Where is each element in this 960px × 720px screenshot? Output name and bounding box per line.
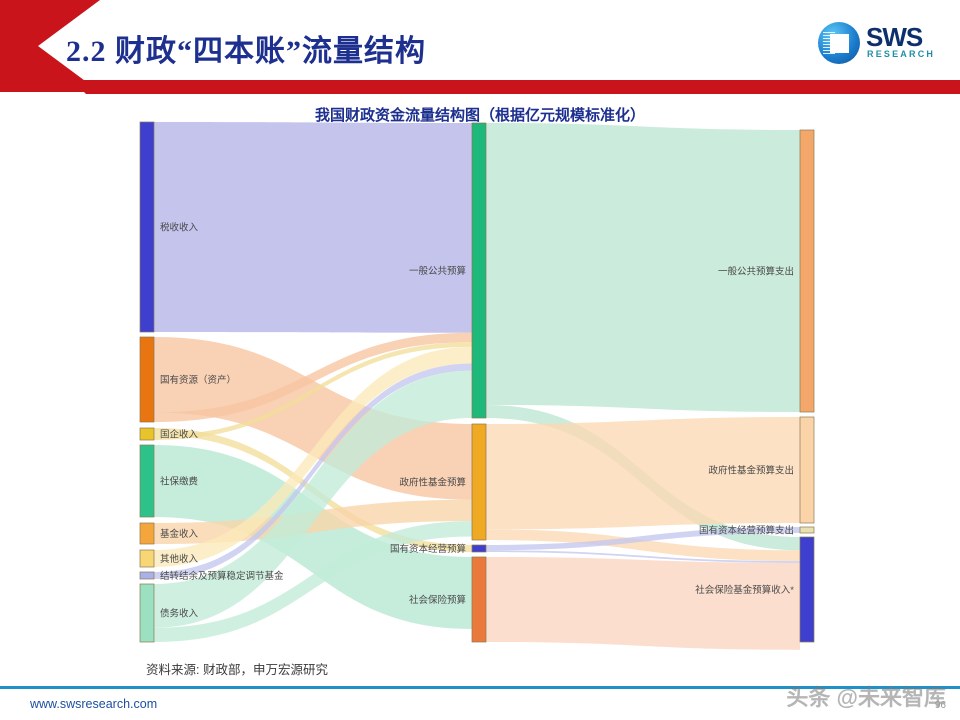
sankey-node-label: 政府性基金预算支出	[708, 465, 794, 477]
sankey-node-label: 债务收入	[160, 608, 199, 620]
sankey-node-label: 基金收入	[160, 528, 199, 540]
sankey-node-label: 社保缴费	[160, 476, 198, 488]
sankey-node[interactable]	[472, 123, 486, 418]
sankey-node-label: 社会保险预算	[409, 594, 466, 606]
sankey-link	[154, 122, 472, 333]
sankey-node[interactable]	[800, 537, 814, 642]
footer-website-link[interactable]: www.swsresearch.com	[30, 697, 157, 711]
sankey-node[interactable]	[472, 424, 486, 540]
logo-square-icon	[830, 34, 849, 53]
sankey-node[interactable]	[140, 122, 154, 332]
page-title: 2.2 财政“四本账”流量结构	[66, 26, 426, 70]
sankey-node[interactable]	[140, 584, 154, 642]
sws-logo-mark-icon	[818, 22, 860, 64]
sankey-node-label: 结转结余及预算稳定调节基金	[160, 570, 284, 582]
sankey-node[interactable]	[800, 527, 814, 533]
sankey-node-label: 一般公共预算	[409, 265, 466, 277]
source-note: 资料来源: 财政部，申万宏源研究	[146, 659, 328, 678]
logo-subtitle: RESEARCH	[867, 49, 935, 59]
sws-logo: SWS RESEARCH	[818, 20, 948, 68]
page-number: 96	[935, 700, 946, 711]
sankey-svg: 税收收入国有资源（资产）国企收入社保缴费基金收入其他收入结转结余及预算稳定调节基…	[0, 115, 960, 650]
sankey-node-label: 税收收入	[160, 222, 199, 234]
sankey-node[interactable]	[140, 550, 154, 567]
sankey-node-label: 其他收入	[160, 553, 199, 565]
sankey-node-label: 国有资本经营预算支出	[699, 525, 794, 537]
sankey-chart: 税收收入国有资源（资产）国企收入社保缴费基金收入其他收入结转结余及预算稳定调节基…	[0, 115, 960, 650]
sankey-node[interactable]	[800, 130, 814, 412]
sankey-node-label: 国有资源（资产）	[160, 374, 236, 386]
sankey-node[interactable]	[800, 417, 814, 523]
sankey-node[interactable]	[140, 523, 154, 544]
sankey-node[interactable]	[140, 572, 154, 579]
sankey-node[interactable]	[140, 337, 154, 422]
sankey-node[interactable]	[140, 428, 154, 440]
slide-header: 2.2 财政“四本账”流量结构 SWS RESEARCH	[0, 0, 960, 96]
sankey-link	[486, 557, 800, 650]
sankey-node[interactable]	[472, 545, 486, 552]
watermark-text: 头条 @未来智库	[786, 680, 946, 712]
sankey-node[interactable]	[472, 557, 486, 642]
sankey-node-label: 国有资本经营预算	[390, 543, 466, 555]
sankey-node-label: 国企收入	[160, 429, 199, 441]
sankey-node-label: 政府性基金预算	[399, 477, 466, 489]
sankey-node-label: 一般公共预算支出	[718, 266, 794, 278]
sankey-node[interactable]	[140, 445, 154, 517]
sankey-node-label: 社会保险基金预算收入*	[695, 584, 794, 596]
